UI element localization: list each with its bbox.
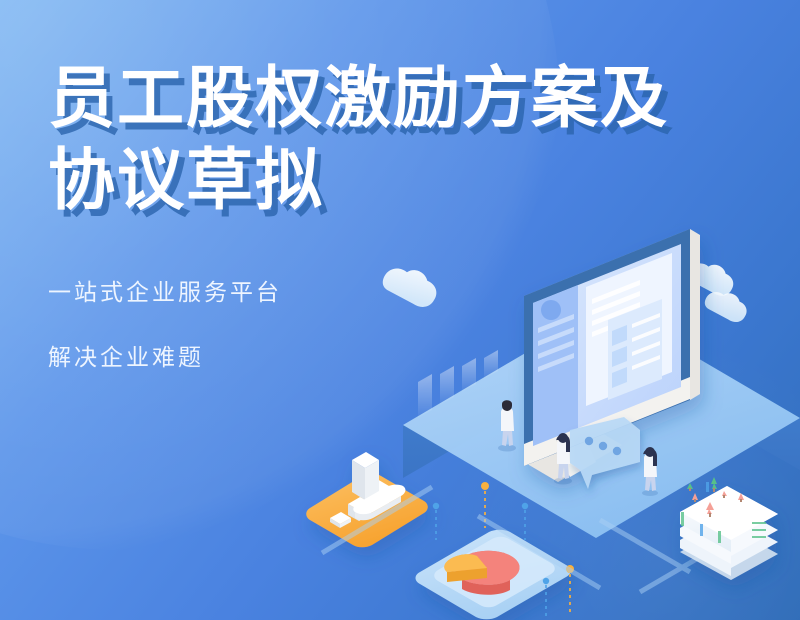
chat-dot-2 [599,442,607,450]
pie-chart-card [416,530,571,620]
chat-dot-1 [585,437,593,445]
connector-dot-blue-2 [522,503,528,540]
promo-banner: 员工股权激励方案及 协议草拟 一站式企业服务平台 解决企业难题 [0,0,800,620]
title-line-2: 协议草拟 [48,140,748,222]
headline-block: 员工股权激励方案及 协议草拟 一站式企业服务平台 解决企业难题 [48,58,748,372]
connector-dot-blue-1 [433,503,439,540]
subtitle-line-1: 一站式企业服务平台 [48,273,748,307]
chat-dot-3 [613,447,621,455]
tree-2 [692,493,698,502]
white-layered-city-block [680,477,778,580]
title-line-1: 员工股权激励方案及 [48,58,748,140]
bar-4 [352,452,379,500]
subtitle-line-2: 解决企业难题 [48,338,748,372]
tree-4 [711,477,717,492]
tree-5 [687,483,693,491]
